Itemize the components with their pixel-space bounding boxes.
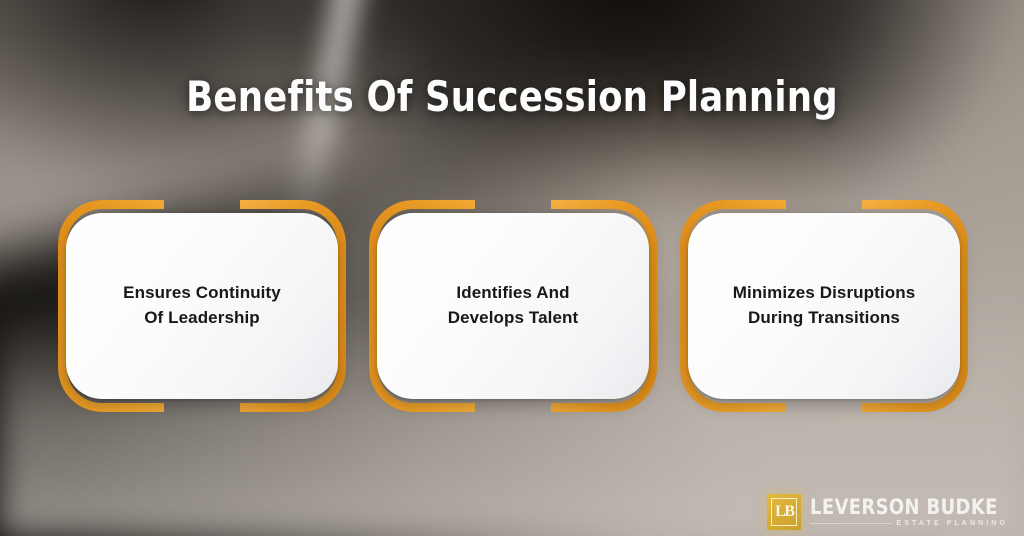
card-label-1: Ensures Continuity Of Leadership	[123, 281, 281, 330]
card-face-1: Ensures Continuity Of Leadership	[66, 213, 338, 399]
logo-monogram: LB	[775, 504, 793, 520]
infographic-canvas: Benefits Of Succession Planning Ensures …	[0, 0, 1024, 536]
logo-tagline-row: ESTATE PLANNING	[810, 520, 1008, 527]
benefit-card-1[interactable]: Ensures Continuity Of Leadership	[58, 200, 346, 412]
logo-rule-left	[810, 523, 891, 524]
brand-logo[interactable]: LB LEVERSON BUDKE ESTATE PLANNING	[767, 494, 1008, 530]
card-face-3: Minimizes Disruptions During Transitions	[688, 213, 960, 399]
benefit-card-row: Ensures Continuity Of Leadership Identif…	[58, 200, 968, 412]
logo-wordmark: LEVERSON BUDKE ESTATE PLANNING	[810, 497, 1008, 527]
logo-company-name: LEVERSON BUDKE	[810, 497, 998, 518]
card-label-2: Identifies And Develops Talent	[448, 281, 579, 330]
card-face-2: Identifies And Develops Talent	[377, 213, 649, 399]
page-title: Benefits Of Succession Planning	[31, 72, 994, 121]
logo-mark-icon: LB	[767, 494, 801, 530]
benefit-card-3[interactable]: Minimizes Disruptions During Transitions	[680, 200, 968, 412]
card-label-3: Minimizes Disruptions During Transitions	[733, 281, 916, 330]
logo-tagline: ESTATE PLANNING	[896, 520, 1008, 527]
benefit-card-2[interactable]: Identifies And Develops Talent	[369, 200, 657, 412]
